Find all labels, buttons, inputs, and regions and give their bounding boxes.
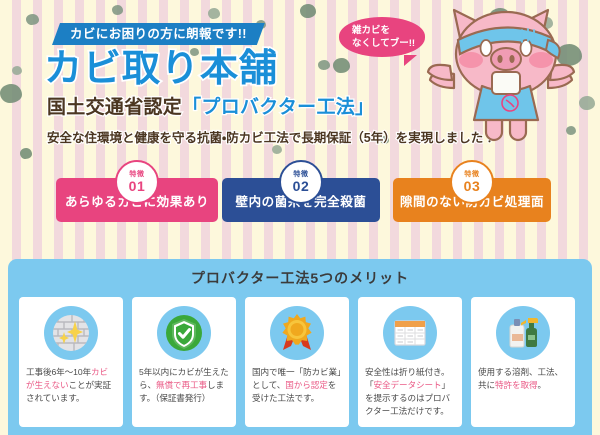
feature-badge-02[interactable]: 特徴 02 壁内の菌糸を完全殺菌 bbox=[222, 178, 380, 222]
feature-badge-01-circle: 特徴 01 bbox=[115, 160, 159, 204]
promo-page: カビにお困りの方に朗報です!! カビ取り本舗 国土交通省認定「プロバクター工法」… bbox=[0, 0, 600, 435]
merit-text-highlight: 国から認定 bbox=[285, 380, 327, 390]
feature-badge-01-number: 01 bbox=[129, 179, 146, 193]
merit-card[interactable]: 安全性は折り紙付き。「安全データシート」を提示するのはプロバクター工法だけです。 bbox=[358, 297, 462, 427]
shield-check-icon bbox=[157, 306, 211, 360]
merits-panel: プロバクター工法5つのメリット bbox=[8, 259, 592, 435]
feature-badge-02-circle: 特徴 02 bbox=[279, 160, 323, 204]
merit-card-text: 5年以内にカビが生えたら、無償で再工事します。（保証書発行） bbox=[139, 366, 229, 405]
data-sheet-icon bbox=[383, 306, 437, 360]
merit-text-highlight: 安全データシート bbox=[374, 380, 442, 390]
page-title: カビ取り本舗 bbox=[44, 48, 278, 90]
attention-ribbon: カビにお困りの方に朗報です!! bbox=[52, 23, 265, 45]
award-medal-icon bbox=[270, 306, 324, 360]
page-subtitle: 国土交通省認定「プロバクター工法」 bbox=[47, 96, 374, 120]
mascot-speech-bubble: 雑カビを なくしてブー!! bbox=[339, 17, 425, 57]
merit-card-text: 国内で唯一「防カビ業」として、国から認定を受けた工法です。 bbox=[252, 366, 342, 405]
merit-text-highlight: 無償で再工事 bbox=[156, 380, 207, 390]
pig-mascot-icon bbox=[424, 2, 592, 154]
merit-card[interactable]: 使用する溶剤、工法、共に特許を取得。 bbox=[471, 297, 575, 427]
merit-card[interactable]: 工事後6年～10年カビが生えないことが実証されています。 bbox=[19, 297, 123, 427]
feature-badge-03-label: 特徴 bbox=[464, 171, 479, 178]
merit-card-list: 工事後6年～10年カビが生えないことが実証されています。 5年以内にカビが生えた… bbox=[19, 297, 581, 427]
subtitle-method-name: 「プロバクター工法」 bbox=[182, 97, 374, 118]
merit-text-highlight: 特許を取得 bbox=[495, 380, 537, 390]
brick-wall-sparkle-icon bbox=[44, 306, 98, 360]
merit-card-text: 工事後6年～10年カビが生えないことが実証されています。 bbox=[26, 366, 116, 405]
speech-line-1: 雑カビを bbox=[352, 24, 425, 37]
merits-heading: プロバクター工法5つのメリット bbox=[8, 259, 592, 288]
merit-text-part: 工事後6年～10年 bbox=[26, 367, 91, 377]
feature-badge-03-circle: 特徴 03 bbox=[450, 160, 494, 204]
merit-text-part: 。 bbox=[537, 380, 546, 390]
feature-badge-02-number: 02 bbox=[293, 179, 310, 193]
speech-line-2: なくしてブー!! bbox=[352, 37, 425, 50]
feature-badge-01-label: 特徴 bbox=[129, 171, 144, 178]
feature-badge-03[interactable]: 特徴 03 隙間のない防カビ処理面 bbox=[393, 178, 551, 222]
merit-card-text: 安全性は折り紙付き。「安全データシート」を提示するのはプロバクター工法だけです。 bbox=[365, 366, 455, 418]
feature-badge-03-number: 03 bbox=[464, 179, 481, 193]
feature-badge-02-label: 特徴 bbox=[293, 171, 308, 178]
spray-bottle-icon bbox=[496, 306, 550, 360]
merit-card[interactable]: 国内で唯一「防カビ業」として、国から認定を受けた工法です。 bbox=[245, 297, 349, 427]
merit-card[interactable]: 5年以内にカビが生えたら、無償で再工事します。（保証書発行） bbox=[132, 297, 236, 427]
subtitle-certification: 国土交通省認定 bbox=[47, 97, 182, 118]
merit-card-text: 使用する溶剤、工法、共に特許を取得。 bbox=[478, 366, 568, 392]
feature-badge-01[interactable]: 特徴 01 あらゆるカビに効果あり bbox=[56, 178, 218, 222]
